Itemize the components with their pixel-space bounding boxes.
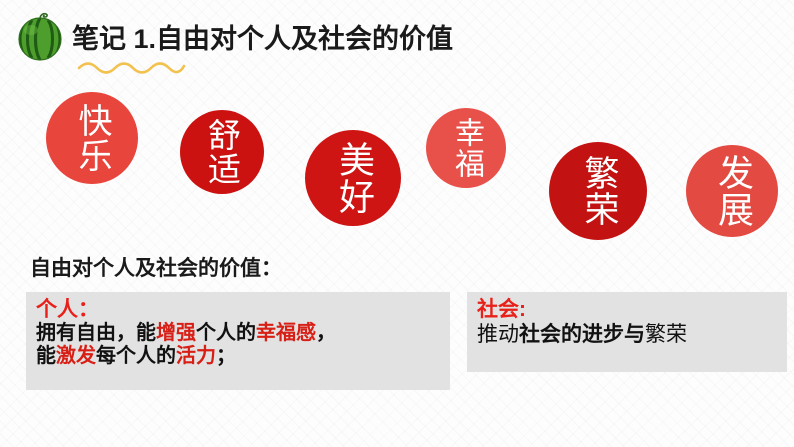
value-bubble: 繁荣 <box>549 142 647 240</box>
box-text-line: 能激发每个人的活力； <box>36 345 442 369</box>
text-run: 繁荣 <box>645 322 687 346</box>
text-run: 个人的 <box>196 322 256 344</box>
watermelon-icon <box>12 8 68 64</box>
box-text-line: 推动社会的进步与繁荣 <box>477 322 779 347</box>
value-bubbles-group: 快乐舒适美好幸福繁荣发展 <box>0 80 794 250</box>
text-run: 能 <box>36 345 56 367</box>
value-bubble: 发展 <box>686 145 778 237</box>
society-value-box: 社会: 推动社会的进步与繁荣 <box>467 292 787 372</box>
value-bubble: 舒适 <box>180 110 264 194</box>
text-run: 增强 <box>156 322 196 344</box>
text-run: 幸福感 <box>256 322 316 344</box>
value-bubble-label: 繁荣 <box>581 155 616 227</box>
value-bubble: 美好 <box>305 130 401 226</box>
text-run: ； <box>216 345 236 367</box>
text-run: ， <box>316 322 336 344</box>
value-bubble-label: 发展 <box>714 154 750 228</box>
slide-header: 笔记 1.自由对个人及社会的价值 <box>0 0 794 80</box>
text-run: 每个人的 <box>96 345 176 367</box>
text-run: 激发 <box>56 345 96 367</box>
text-run: 活力 <box>176 345 216 367</box>
value-bubble-label: 舒适 <box>206 118 239 186</box>
society-box-heading: 社会: <box>477 298 779 322</box>
section-label: 自由对个人及社会的价值： <box>30 252 282 282</box>
slide-canvas: 笔记 1.自由对个人及社会的价值 快乐舒适美好幸福繁荣发展 自由对个人及社会的价… <box>0 0 794 447</box>
page-title: 笔记 1.自由对个人及社会的价值 <box>72 17 453 56</box>
value-bubble-label: 幸福 <box>451 117 481 179</box>
text-run: 拥有自由，能 <box>36 322 156 344</box>
value-bubble: 幸福 <box>426 108 506 188</box>
text-run: 推动 <box>477 322 519 346</box>
personal-box-body: 拥有自由，能增强个人的幸福感，能激发每个人的活力； <box>36 322 442 369</box>
value-bubble-label: 美好 <box>335 141 371 215</box>
title-underline-squiggle <box>76 56 186 76</box>
box-text-line: 拥有自由，能增强个人的幸福感， <box>36 322 442 346</box>
society-box-body: 推动社会的进步与繁荣 <box>477 322 779 347</box>
text-run: 社会的进步与 <box>519 321 645 346</box>
personal-box-heading: 个人： <box>36 298 442 322</box>
value-bubble: 快乐 <box>46 92 138 184</box>
personal-value-box: 个人： 拥有自由，能增强个人的幸福感，能激发每个人的活力； <box>26 292 450 390</box>
value-bubble-label: 快乐 <box>75 103 109 173</box>
